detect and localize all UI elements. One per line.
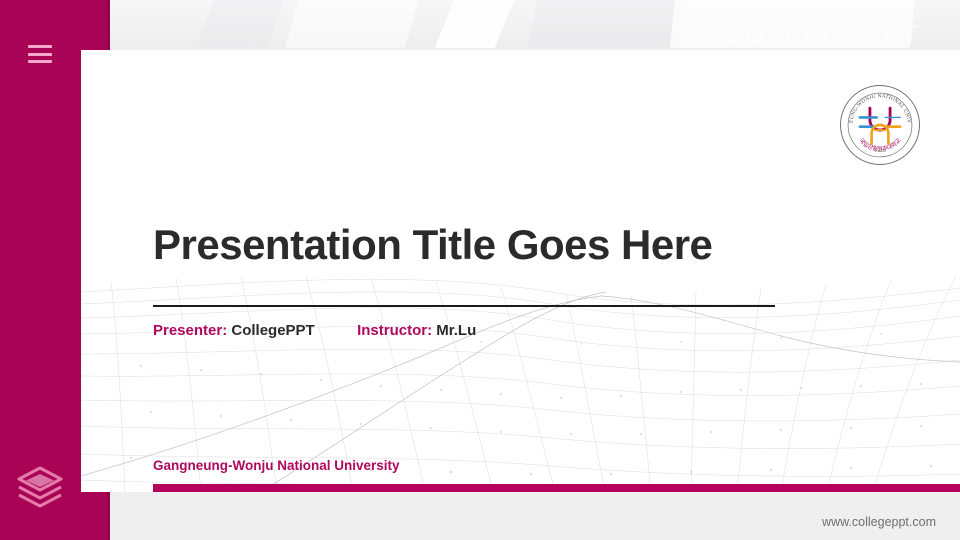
svg-text:1946: 1946: [875, 148, 886, 154]
header-band: COLLEGEPPT: [110, 0, 960, 48]
hamburger-bar: [28, 45, 52, 48]
title-divider: [153, 305, 775, 307]
decorative-swoosh: [261, 0, 438, 48]
presenter-label: Presenter:: [153, 322, 227, 339]
footer-url: www.collegeppt.com: [822, 515, 936, 529]
hamburger-menu-icon[interactable]: [28, 45, 52, 63]
page-title: Presentation Title Goes Here: [153, 222, 913, 268]
hamburger-bar: [28, 60, 52, 63]
university-seal-icon: GANGNEUNG-WONJU NATIONAL UNIVERSITY 국립강륑…: [838, 83, 922, 167]
decorative-swoosh: [398, 0, 543, 48]
stacked-layers-icon[interactable]: [14, 460, 66, 512]
header-watermark: COLLEGEPPT: [724, 19, 920, 48]
slide-canvas: GANGNEUNG-WONJU NATIONAL UNIVERSITY 국립강륑…: [81, 50, 960, 492]
byline: Presenter: CollegePPT Instructor: Mr.Lu: [153, 322, 476, 339]
instructor-value: Mr.Lu: [436, 322, 476, 339]
page-root: COLLEGEPPT: [0, 0, 960, 540]
presenter-value: CollegePPT: [231, 322, 314, 339]
hamburger-bar: [28, 53, 52, 56]
instructor-label: Instructor:: [357, 322, 432, 339]
university-name: Gangneung-Wonju National University: [153, 458, 400, 473]
accent-bottom-bar: [153, 484, 960, 492]
